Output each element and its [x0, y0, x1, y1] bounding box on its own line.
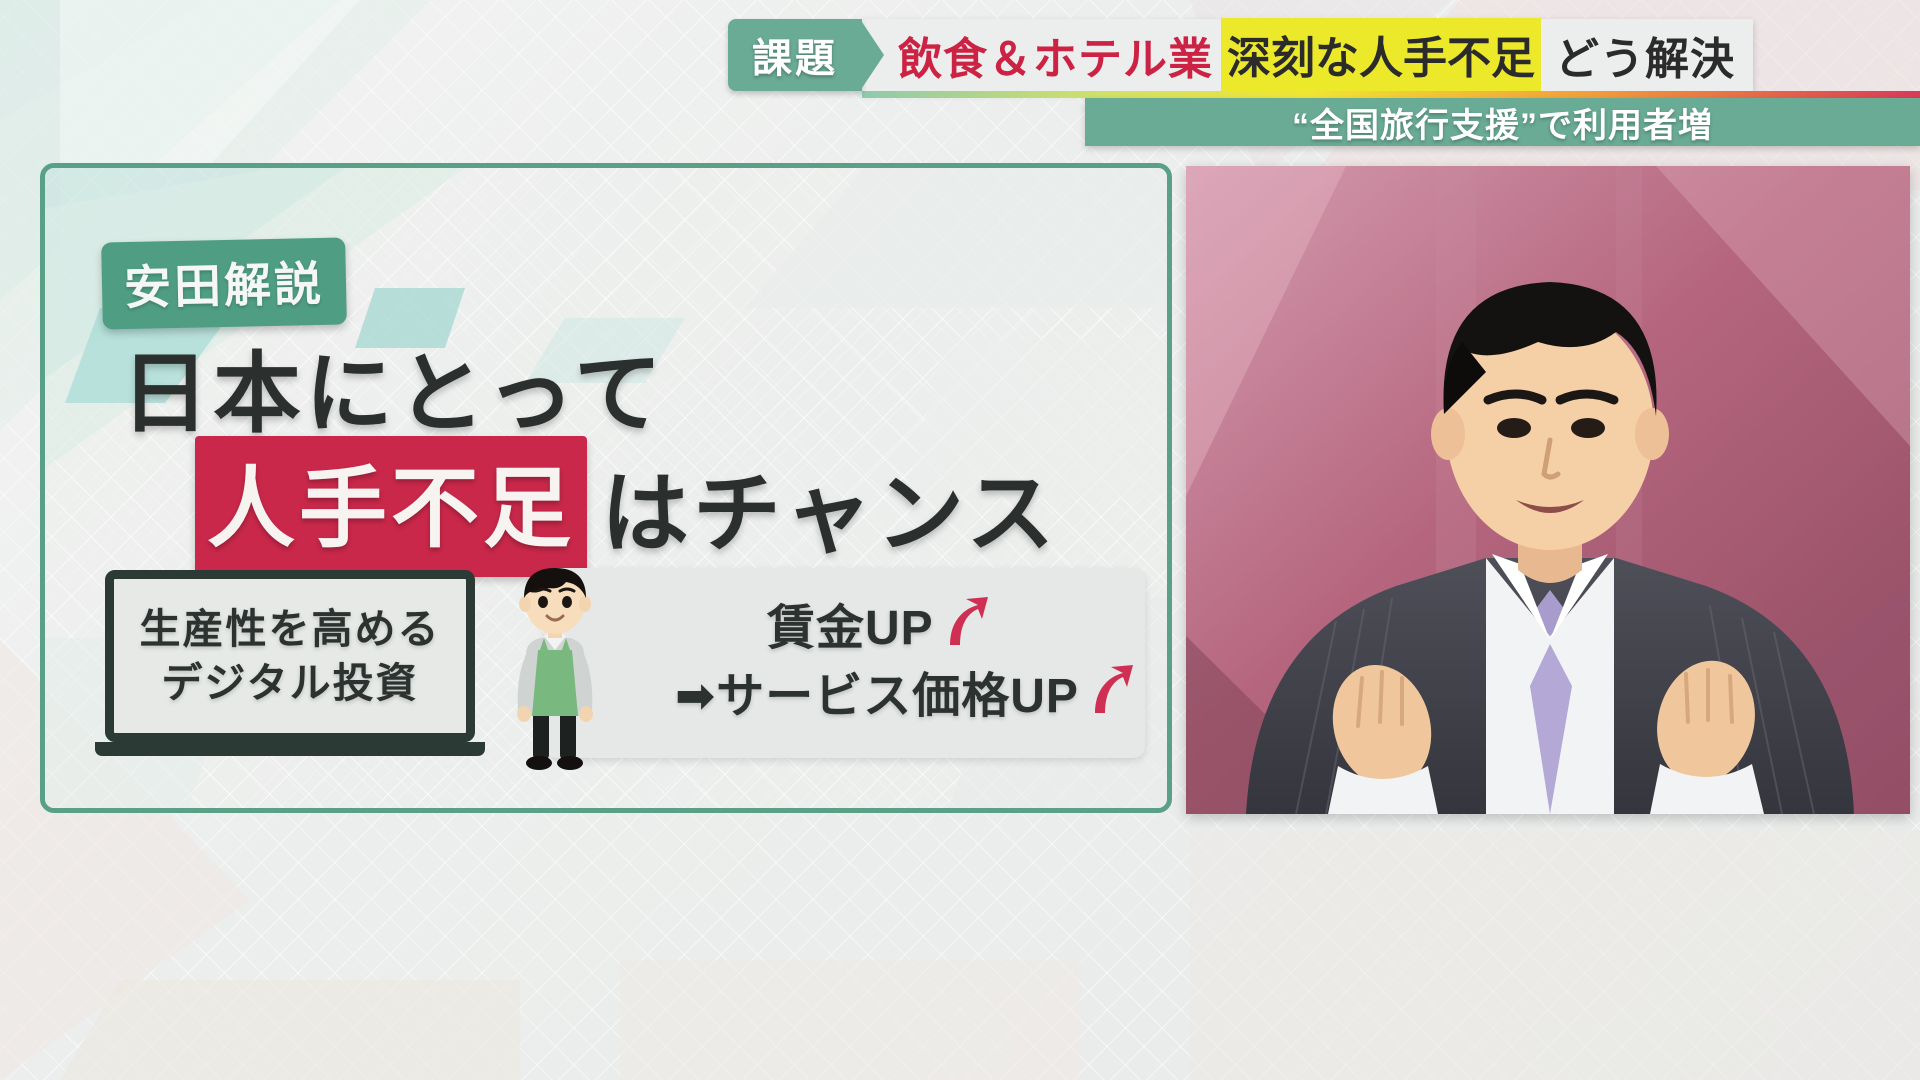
commentator-badge: 安田解説	[101, 237, 347, 329]
category-tab-label: 課題	[752, 26, 838, 84]
outcome-row-wage-label: 賃金UP	[767, 601, 934, 658]
panel-title-line1: 日本にとって	[121, 323, 666, 450]
headline-highlight: 深刻な人手不足	[1221, 18, 1541, 92]
headline-part1: 飲食＆ホテル業	[898, 23, 1213, 87]
digital-investment-line1: 生産性を高める	[140, 602, 441, 656]
right-arrow-icon: ➡	[675, 669, 716, 726]
category-tab: 課題	[728, 19, 862, 91]
panel-title-line2: 人手不足 はチャンス	[195, 436, 1058, 577]
outcome-row-wage: 賃金UP	[675, 595, 1145, 663]
digital-investment-line2: デジタル投資	[161, 656, 418, 710]
headline-part2: どう解決	[1555, 23, 1735, 87]
laptop-screen: 生産性を高める デジタル投資	[105, 570, 475, 742]
explainer-panel: 安田解説 日本にとって 人手不足 はチャンス 賃金UP ➡ サービス価格UP	[40, 163, 1172, 813]
panel-title-tail: はチャンス	[601, 443, 1058, 570]
up-arrow-icon	[1083, 663, 1137, 731]
studio-presenter-video	[1186, 166, 1910, 814]
laptop-base	[95, 742, 485, 756]
outcome-card: 賃金UP ➡ サービス価格UP	[545, 568, 1145, 758]
outcome-row-price-label: サービス価格UP	[716, 669, 1079, 726]
shop-clerk-icon	[500, 558, 610, 773]
up-arrow-icon	[938, 595, 992, 663]
panel-title-highlight: 人手不足	[195, 436, 587, 577]
subtitle-text: “全国旅行支援”で利用者増	[1292, 98, 1713, 147]
outcome-card-lines: 賃金UP ➡ サービス価格UP	[545, 568, 1145, 758]
news-header: 飲食＆ホテル業 深刻な人手不足 どう解決 課題 “全国旅行支援”で利用者増	[0, 0, 1920, 160]
headline-bar: 飲食＆ホテル業 深刻な人手不足 どう解決	[862, 19, 1753, 91]
digital-investment-card: 生産性を高める デジタル投資	[95, 570, 485, 756]
commentator-badge-label: 安田解説	[124, 257, 325, 314]
subtitle-bar: “全国旅行支援”で利用者増	[1085, 98, 1920, 146]
outcome-row-price: ➡ サービス価格UP	[675, 663, 1145, 731]
